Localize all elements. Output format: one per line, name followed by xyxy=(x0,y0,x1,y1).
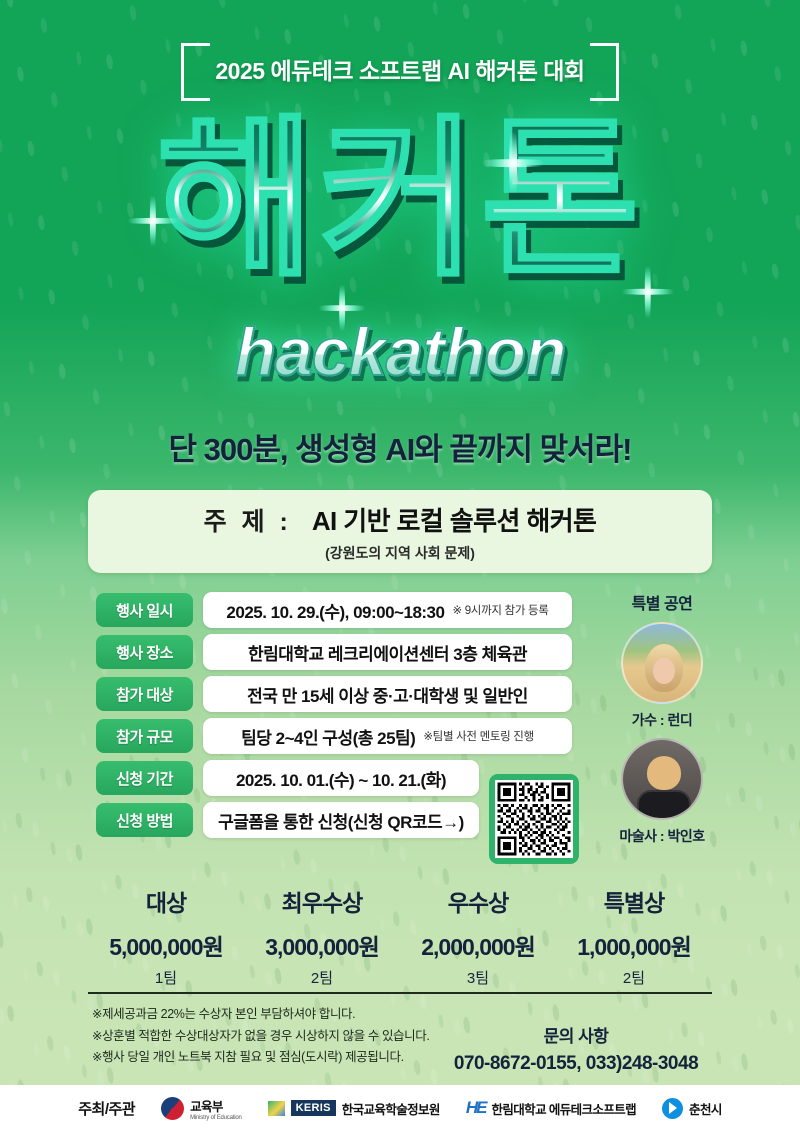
hero-wordmark: 해커톤 hackathon xyxy=(0,108,800,408)
notes-section: ※제세공과금 22%는 수상자 본인 부담하셔야 합니다. ※상훈별 적합한 수… xyxy=(92,1004,492,1069)
prize-name: 우수상 xyxy=(400,884,556,918)
chuncheon-icon xyxy=(662,1098,683,1119)
prize-amount: 3,000,000원 xyxy=(244,928,400,962)
info-value: 전국 만 15세 이상 중·고·대학생 및 일반인 xyxy=(203,676,572,712)
prize-name: 특별상 xyxy=(556,884,712,918)
info-row: 행사 장소 한림대학교 레크리에이션센터 3층 체육관 xyxy=(96,634,572,670)
hallym-he-icon: HE xyxy=(466,1098,486,1118)
logo-ministry-sublabel: Ministry of Education xyxy=(190,1115,242,1121)
info-value: 2025. 10. 29.(수), 09:00~18:30 ※ 9시까지 참가 … xyxy=(203,592,572,628)
info-value: 한림대학교 레크리에이션센터 3층 체육관 xyxy=(203,634,572,670)
info-value: 2025. 10. 01.(수) ~ 10. 21.(화) xyxy=(203,760,479,796)
info-badge: 신청 기간 xyxy=(96,761,193,795)
qr-code-icon xyxy=(495,780,573,858)
info-value: 구글폼을 통한 신청(신청 QR코드→) xyxy=(203,802,479,838)
info-row: 참가 대상 전국 만 15세 이상 중·고·대학생 및 일반인 xyxy=(96,676,572,712)
footer-sponsors: 주최/주관 교육부 Ministry of Education KERIS 한국… xyxy=(0,1085,800,1131)
info-badge: 행사 일시 xyxy=(96,593,193,627)
header-bracket: 2025 에듀테크 소프트랩 AI 해커톤 대회 xyxy=(181,43,618,95)
info-main-text: 2025. 10. 29.(수), 09:00~18:30 xyxy=(226,598,444,623)
info-badge: 참가 규모 xyxy=(96,719,193,753)
taegeuk-icon xyxy=(161,1097,184,1120)
info-main-text: 전국 만 15세 이상 중·고·대학생 및 일반인 xyxy=(247,682,528,707)
prize-item: 특별상 1,000,000원 2팀 xyxy=(556,884,712,988)
guest-photo-singer xyxy=(621,622,703,704)
prize-amount: 2,000,000원 xyxy=(400,928,556,962)
special-performance-section: 특별 공연 가수 : 런디 마술사 : 박인호 xyxy=(598,590,726,846)
logo-ministry-label: 교육부 xyxy=(190,1100,223,1114)
host-label: 주최/주관 xyxy=(78,1098,135,1119)
logo-ministry-of-education: 교육부 Ministry of Education xyxy=(161,1096,242,1121)
info-row: 참가 규모 팀당 2~4인 구성(총 25팀) ※팀별 사전 멘토링 진행 xyxy=(96,718,572,754)
keris-tag: KERIS xyxy=(291,1100,336,1116)
prize-teams: 2팀 xyxy=(244,967,400,988)
header-band: 2025 에듀테크 소프트랩 AI 해커톤 대회 xyxy=(0,38,800,100)
slogan-text: 단 300분, 생성형 AI와 끝까지 맞서라! xyxy=(0,424,800,469)
contact-section: 문의 사항 070-8672-0155, 033)248-3048 xyxy=(440,1022,712,1075)
prize-name: 최우수상 xyxy=(244,884,400,918)
prize-amount: 1,000,000원 xyxy=(556,928,712,962)
logo-chuncheon-city: 춘천시 xyxy=(662,1098,722,1119)
hero-title-english: hackathon xyxy=(0,313,800,391)
theme-line: 주 제 : AI 기반 로컬 솔루션 해커톤 xyxy=(204,501,597,538)
info-note-text: ※ 9시까지 참가 등록 xyxy=(452,602,548,618)
guest-name-magician: 마술사 : 박인호 xyxy=(598,826,726,846)
note-item: ※행사 당일 개인 노트북 지참 필요 및 점심(도시락) 제공됩니다. xyxy=(92,1047,492,1069)
logo-hallym-edutech: HE 한림대학교 에듀테크소프트랩 xyxy=(466,1098,636,1118)
info-value: 팀당 2~4인 구성(총 25팀) ※팀별 사전 멘토링 진행 xyxy=(203,718,572,754)
contact-phone-number[interactable]: 070-8672-0155, 033)248-3048 xyxy=(440,1053,712,1075)
info-main-text: 한림대학교 레크리에이션센터 3층 체육관 xyxy=(248,640,527,665)
hero-title-korean: 해커톤 xyxy=(0,114,800,286)
header-title: 2025 에듀테크 소프트랩 AI 해커톤 대회 xyxy=(215,52,584,86)
prize-name: 대상 xyxy=(88,884,244,918)
theme-card: 주 제 : AI 기반 로컬 솔루션 해커톤 (강원도의 지역 사회 문제) xyxy=(88,490,712,573)
note-item: ※상훈별 적합한 수상대상자가 없을 경우 시상하지 않을 수 있습니다. xyxy=(92,1026,492,1048)
theme-subtitle: (강원도의 지역 사회 문제) xyxy=(325,543,475,563)
prize-teams: 1팀 xyxy=(88,967,244,988)
application-qr-code[interactable] xyxy=(489,774,579,864)
theme-label: 주 제 : xyxy=(204,502,292,538)
prize-item: 최우수상 3,000,000원 2팀 xyxy=(244,884,400,988)
special-performance-title: 특별 공연 xyxy=(598,590,726,614)
info-main-text: 팀당 2~4인 구성(총 25팀) xyxy=(241,724,415,749)
guest-magician: 마술사 : 박인호 xyxy=(598,738,726,846)
guest-singer: 가수 : 런디 xyxy=(598,622,726,730)
section-divider xyxy=(88,992,712,994)
prize-section: 대상 5,000,000원 1팀 최우수상 3,000,000원 2팀 우수상 … xyxy=(88,884,712,988)
contact-title: 문의 사항 xyxy=(440,1022,712,1047)
poster-canvas: 2025 에듀테크 소프트랩 AI 해커톤 대회 해커톤 hackathon 단… xyxy=(0,0,800,1131)
info-badge: 행사 장소 xyxy=(96,635,193,669)
info-badge: 참가 대상 xyxy=(96,677,193,711)
logo-hallym-label: 한림대학교 에듀테크소프트랩 xyxy=(491,1099,636,1118)
logo-keris-label: 한국교육학술정보원 xyxy=(342,1099,440,1118)
info-main-text: 구글폼을 통한 신청(신청 QR코드→) xyxy=(218,808,464,833)
prize-teams: 3팀 xyxy=(400,967,556,988)
prize-item: 우수상 2,000,000원 3팀 xyxy=(400,884,556,988)
info-badge: 신청 방법 xyxy=(96,803,193,837)
info-note-text: ※팀별 사전 멘토링 진행 xyxy=(423,728,534,744)
info-main-text: 2025. 10. 01.(수) ~ 10. 21.(화) xyxy=(236,766,446,791)
keris-square-icon xyxy=(268,1101,285,1116)
prize-teams: 2팀 xyxy=(556,967,712,988)
note-item: ※제세공과금 22%는 수상자 본인 부담하셔야 합니다. xyxy=(92,1004,492,1026)
guest-name-singer: 가수 : 런디 xyxy=(598,710,726,730)
theme-value: AI 기반 로컬 솔루션 해커톤 xyxy=(312,501,597,538)
info-row: 행사 일시 2025. 10. 29.(수), 09:00~18:30 ※ 9시… xyxy=(96,592,572,628)
logo-keris: KERIS 한국교육학술정보원 xyxy=(268,1099,440,1118)
prize-item: 대상 5,000,000원 1팀 xyxy=(88,884,244,988)
logo-chuncheon-label: 춘천시 xyxy=(689,1099,722,1118)
prize-amount: 5,000,000원 xyxy=(88,928,244,962)
logo-ministry-text: 교육부 Ministry of Education xyxy=(190,1096,242,1121)
guest-photo-magician xyxy=(621,738,703,820)
